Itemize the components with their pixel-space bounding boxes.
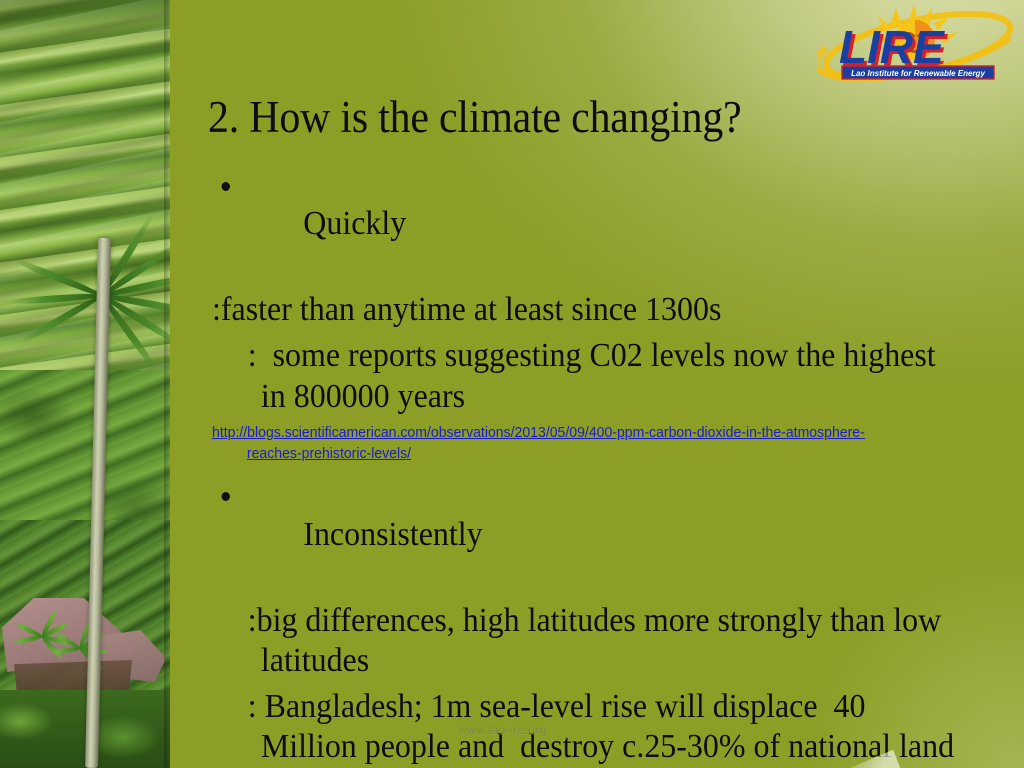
bullet-dot-icon: [222, 182, 230, 191]
slide-watermark: www.lao-ire.org: [458, 723, 547, 737]
small-palm-center: [52, 620, 112, 676]
photo-strip-edge: [164, 0, 170, 768]
detail-line-faster: :faster than anytime at least since 1300…: [212, 290, 968, 330]
slide-title: 2. How is the climate changing?: [208, 94, 952, 141]
lire-logo: LIRE LIRE Lao Institute for Renewable En…: [818, 4, 1018, 82]
slide-body: Quickly :faster than anytime at least si…: [206, 160, 1016, 768]
bullet-item-quickly-label: Quickly: [303, 205, 406, 242]
detail-line-bangladesh: : Bangladesh; 1m sea-level rise will dis…: [212, 687, 968, 768]
source-link[interactable]: http://blogs.scientificamerican.com/obse…: [212, 423, 992, 465]
bullet-dot-icon: [222, 492, 230, 501]
bullet-item-quickly: Quickly: [214, 164, 968, 284]
left-photo-strip: [0, 0, 170, 768]
source-link-part-1: http://blogs.scientificamerican.com/obse…: [212, 425, 865, 441]
detail-line-co2: : some reports suggesting C02 levels now…: [212, 336, 968, 416]
source-link-part-2: reaches-prehistoric-levels/: [212, 444, 992, 465]
lire-logo-svg: LIRE LIRE Lao Institute for Renewable En…: [818, 4, 1018, 82]
logo-letters: LIRE: [839, 21, 945, 73]
bullet-item-inconsistently: Inconsistently: [214, 475, 968, 595]
slide-canvas: LIRE LIRE Lao Institute for Renewable En…: [0, 0, 1024, 768]
logo-tagline: Lao Institute for Renewable Energy: [851, 69, 985, 78]
bullet-item-inconsistently-label: Inconsistently: [303, 516, 482, 553]
detail-line-latitudes: :big differences, high latitudes more st…: [212, 601, 968, 681]
